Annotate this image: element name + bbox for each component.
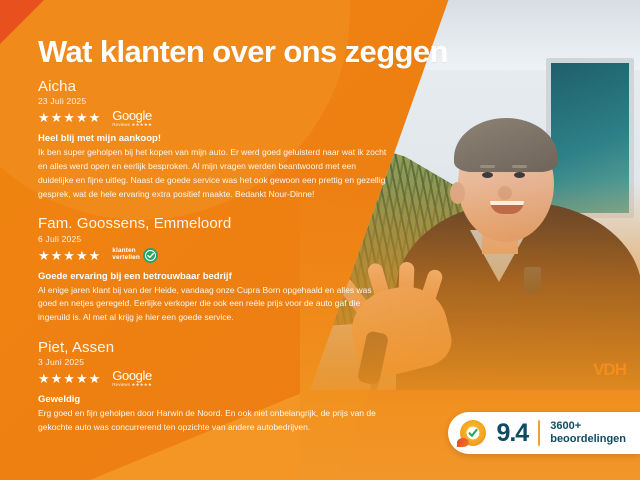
google-logo-wordmark: Google <box>112 369 152 382</box>
banner-content: Wat klanten over ons zeggen Aicha 23 Jul… <box>0 0 640 480</box>
review-title: Geweldig <box>38 394 418 405</box>
checkmark-icon <box>143 248 158 263</box>
review-title: Goede ervaring bij een betrouwbaar bedri… <box>38 271 418 282</box>
reviewer-name: Fam. Goossens, Emmeloord <box>38 215 418 232</box>
star-rating-icon: ★★★★★ <box>38 111 101 124</box>
review-date: 23 Juli 2025 <box>38 96 418 106</box>
score-count-text: 3600+ beoordelingen <box>550 420 626 446</box>
review-body: Erg goed en fijn geholpen door Harwin de… <box>38 407 390 435</box>
reviewer-name: Piet, Assen <box>38 339 418 356</box>
google-logo-sublabel: Reviews ★★★★★ <box>112 123 152 128</box>
klantenvertellen-label-line2: vertellen <box>112 255 140 262</box>
review-date: 3 Juni 2025 <box>38 357 418 367</box>
star-rating-icon: ★★★★★ <box>38 372 101 385</box>
score-count: 3600+ <box>550 420 626 433</box>
google-reviews-logo: Google Reviews ★★★★★ <box>112 369 152 388</box>
page-title: Wat klanten over ons zeggen <box>38 34 448 70</box>
score-value: 9.4 <box>496 421 528 446</box>
review-item-piet: Piet, Assen 3 Juni 2025 ★★★★★ Google Rev… <box>38 339 418 435</box>
overall-score-badge: 9.4 3600+ beoordelingen <box>448 412 640 454</box>
testimonial-banner: VDH Wat klanten over ons zeggen Aicha 23… <box>0 0 640 480</box>
review-item-goossens: Fam. Goossens, Emmeloord 6 Juli 2025 ★★★… <box>38 215 418 325</box>
score-divider <box>538 420 540 446</box>
klantenvertellen-seal-icon <box>460 420 486 446</box>
score-unit: beoordelingen <box>550 433 626 446</box>
review-rating-row: ★★★★★ klanten vertellen <box>38 246 418 265</box>
review-title: Heel blij met mijn aankoop! <box>38 133 418 144</box>
google-logo-sublabel: Reviews ★★★★★ <box>112 383 152 388</box>
klantenvertellen-wordmark: klanten vertellen <box>112 248 140 262</box>
review-date: 6 Juli 2025 <box>38 234 418 244</box>
klantenvertellen-logo: klanten vertellen <box>112 248 158 263</box>
review-item-aicha: Aicha 23 Juli 2025 ★★★★★ Google Reviews … <box>38 78 418 201</box>
google-logo-wordmark: Google <box>112 109 152 122</box>
reviewer-name: Aicha <box>38 78 418 95</box>
review-body: Al enige jaren klant bij van der Heide, … <box>38 284 390 325</box>
review-body: Ik ben super geholpen bij het kopen van … <box>38 146 390 201</box>
google-reviews-logo: Google Reviews ★★★★★ <box>112 109 152 128</box>
review-rating-row: ★★★★★ Google Reviews ★★★★★ <box>38 108 418 127</box>
reviews-list: Aicha 23 Juli 2025 ★★★★★ Google Reviews … <box>38 78 418 449</box>
star-rating-icon: ★★★★★ <box>38 249 101 262</box>
review-rating-row: ★★★★★ Google Reviews ★★★★★ <box>38 369 418 388</box>
